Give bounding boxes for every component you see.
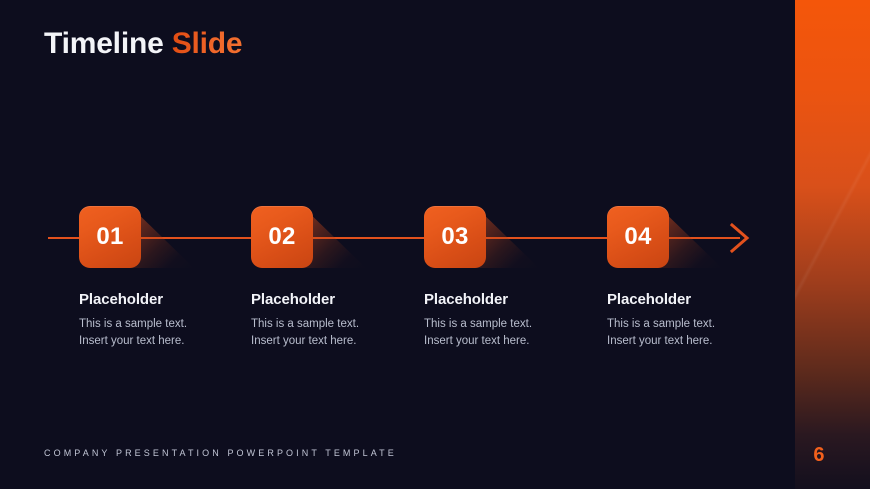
caption-body-line-1: This is a sample text. [79,316,239,333]
caption-title: Placeholder [607,291,767,308]
caption-title: Placeholder [424,291,584,308]
page-title: Timeline Slide [44,27,242,61]
slide-canvas: Timeline Slide 01 02 03 04 [0,0,870,489]
timeline-track: 01 02 03 04 [0,196,795,282]
caption-body-line-2: Insert your text here. [251,333,411,350]
node-card[interactable]: 01 [79,206,141,268]
node-card[interactable]: 03 [424,206,486,268]
timeline-node-4[interactable]: 04 [598,196,667,282]
page-title-accent: Slide [172,27,243,60]
node-number: 04 [624,225,651,249]
caption-body-line-1: This is a sample text. [607,316,767,333]
timeline-node-3[interactable]: 03 [415,196,484,282]
caption-title: Placeholder [251,291,411,308]
caption-title: Placeholder [79,291,239,308]
arrow-right-icon [729,222,751,254]
node-number: 01 [96,225,123,249]
caption-body: This is a sample text. Insert your text … [424,316,584,351]
node-card[interactable]: 02 [251,206,313,268]
caption-1: Placeholder This is a sample text. Inser… [79,291,239,351]
accent-strip-sheen [795,0,870,489]
caption-2: Placeholder This is a sample text. Inser… [251,291,411,351]
timeline-node-1[interactable]: 01 [70,196,139,282]
caption-row: Placeholder This is a sample text. Inser… [0,291,795,361]
caption-body-line-1: This is a sample text. [424,316,584,333]
caption-body-line-2: Insert your text here. [79,333,239,350]
node-number: 02 [268,225,295,249]
caption-body: This is a sample text. Insert your text … [607,316,767,351]
caption-4: Placeholder This is a sample text. Inser… [607,291,767,351]
page-title-main: Timeline [44,27,172,60]
caption-body-line-2: Insert your text here. [424,333,584,350]
caption-3: Placeholder This is a sample text. Inser… [424,291,584,351]
footer-text: Company Presentation PowerPoint Template [44,448,397,458]
caption-body: This is a sample text. Insert your text … [251,316,411,351]
page-number: 6 [813,444,825,467]
caption-body-line-2: Insert your text here. [607,333,767,350]
node-number: 03 [441,225,468,249]
caption-body: This is a sample text. Insert your text … [79,316,239,351]
node-card[interactable]: 04 [607,206,669,268]
caption-body-line-1: This is a sample text. [251,316,411,333]
timeline-node-2[interactable]: 02 [242,196,311,282]
